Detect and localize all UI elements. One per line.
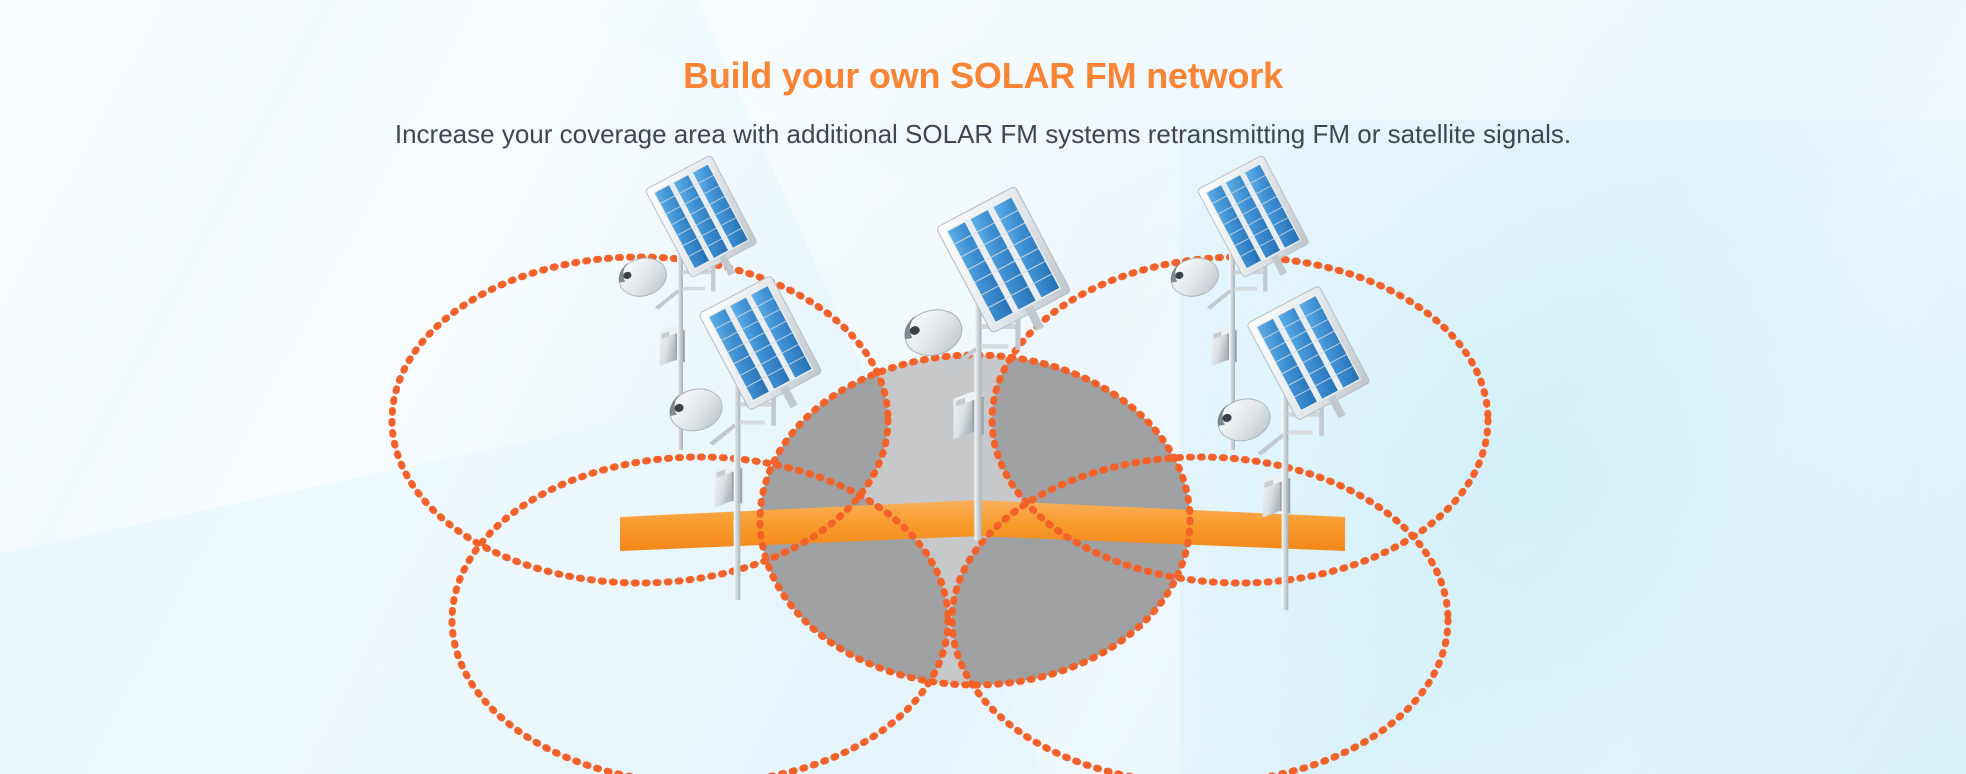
- solar-fm-network-banner: Build your own SOLAR FM network Increase…: [0, 0, 1966, 774]
- banner-header: Build your own SOLAR FM network Increase…: [0, 0, 1966, 150]
- page-subtitle: Increase your coverage area with additio…: [0, 97, 1966, 150]
- page-title: Build your own SOLAR FM network: [0, 0, 1966, 97]
